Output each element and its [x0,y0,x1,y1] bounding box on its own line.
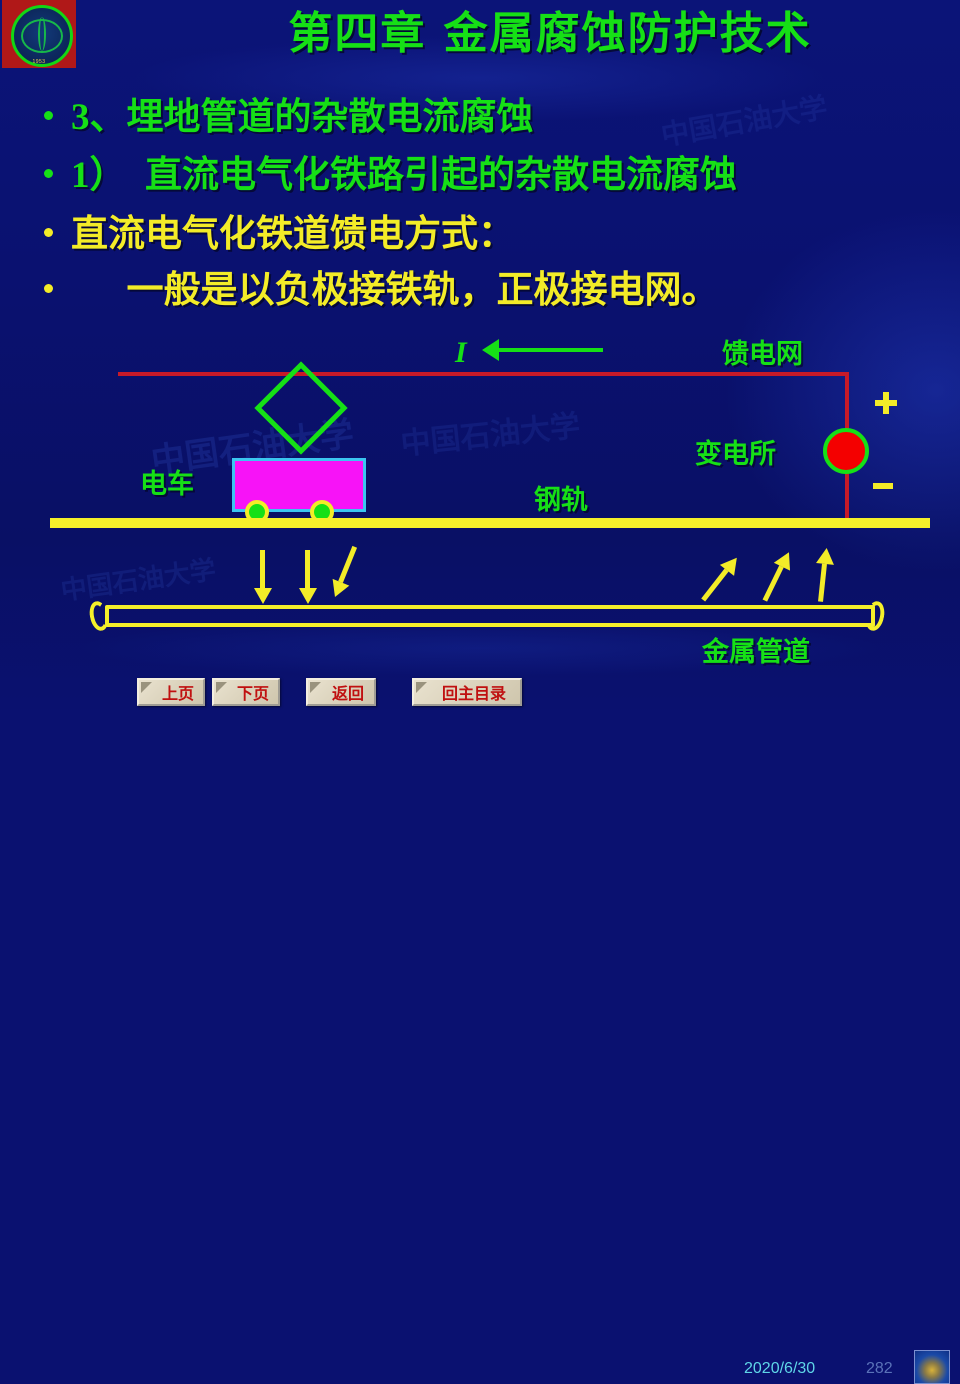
bullet-dot-icon [44,111,53,120]
university-logo: 1953 [2,0,76,68]
metal-pipeline [105,605,875,627]
pipeline-label: 金属管道 [702,630,810,669]
next-page-button[interactable]: 下页 [212,678,280,706]
logo-year: 1953 [2,59,76,65]
stray-current-arrow-up [701,556,743,606]
date-text: 2020/6/30 [744,1360,815,1378]
decorative-thumbnail-image [914,1350,950,1384]
back-button[interactable]: 返回 [306,678,376,706]
slide-canvas: 中国石油大学 中国石油大学 中国石油大学 中国石油大学 1953 第四章 金属腐… [0,0,960,720]
feed-network-label: 馈电网 [722,332,803,371]
page-title: 第四章 金属腐蚀防护技术 [200,6,900,64]
bullet-dot-icon [44,228,53,237]
current-symbol-label: I [455,336,467,370]
stray-current-arrow-up [763,551,797,605]
bullet-text: 3、埋地管道的杂散电流腐蚀 [71,86,534,140]
stray-current-arrow-down [260,550,272,604]
positive-terminal-icon [875,392,897,414]
bullet-item: 1） 直流电气化铁路引起的杂散电流腐蚀 [44,144,737,198]
footer-bar: 上页 下页 返回 回主目录 2020/6/30 282 [0,672,960,720]
negative-terminal-icon [873,483,893,489]
prev-page-button[interactable]: 上页 [137,678,205,706]
bullet-item: 3、埋地管道的杂散电流腐蚀 [44,86,534,140]
bullet-item: 直流电气化铁道馈电方式： [44,203,515,257]
bullet-item: 一般是以负极接铁轨，正极接电网。 [44,259,719,313]
stray-current-arrow-up [818,548,835,603]
stray-current-arrow-down [332,546,363,600]
stray-current-arrow-down [305,550,317,604]
logo-emblem-ring [11,5,73,67]
bullet-dot-icon [44,169,53,178]
bullet-dot-icon [44,284,53,293]
current-direction-arrow-icon [498,348,603,352]
rail-label: 钢轨 [534,478,588,517]
bullet-text: 直流电气化铁道馈电方式： [71,203,515,257]
feed-wire-line [118,372,848,376]
steel-rail-line [50,518,930,528]
bullet-text: 1） 直流电气化铁路引起的杂散电流腐蚀 [71,144,737,198]
main-menu-button[interactable]: 回主目录 [412,678,522,706]
page-number: 282 [866,1360,893,1378]
tram-label: 电车 [140,462,194,501]
substation-label: 变电所 [695,432,776,471]
bullet-text: 一般是以负极接铁轨，正极接电网。 [71,259,719,313]
substation-node [823,428,869,474]
stray-current-diagram: 馈电网 I 电车 钢轨 变电所 [0,320,960,670]
